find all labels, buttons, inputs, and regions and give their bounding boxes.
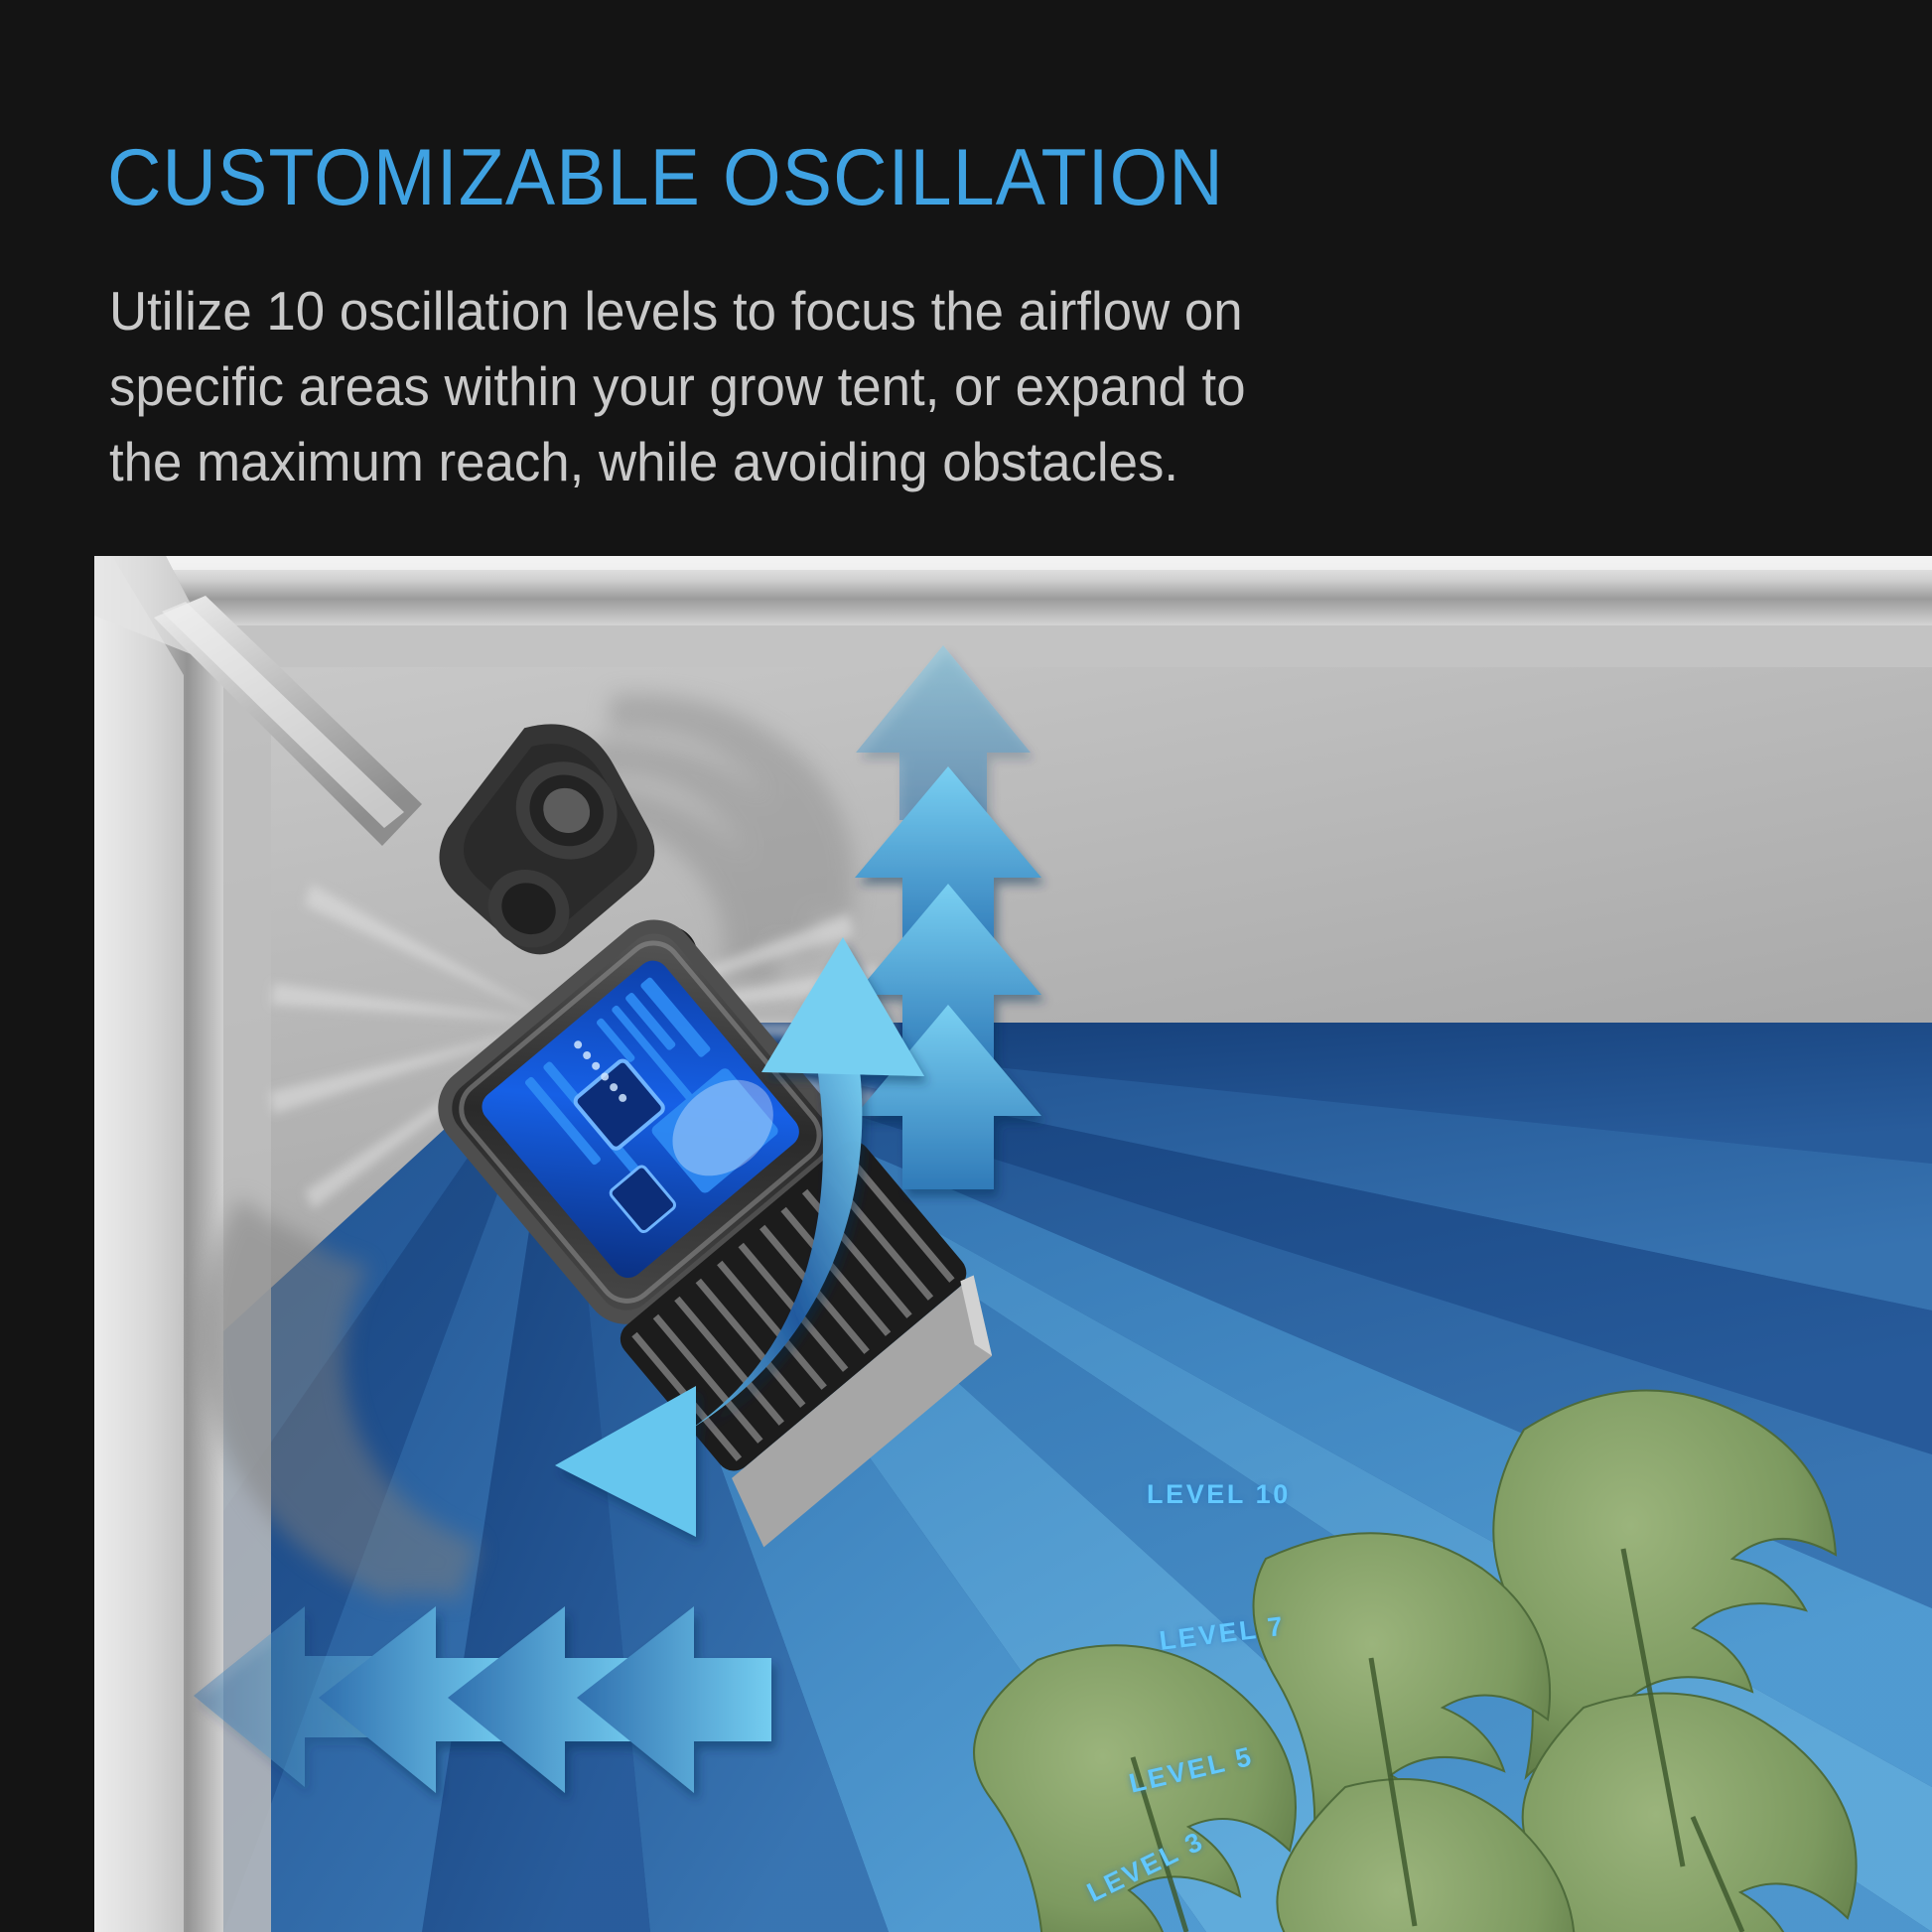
grow-tent-scene: LEVEL 10 LEVEL 7 LEVEL 5 LEVEL 3 LEVEL 1… [94, 556, 1932, 1932]
description-line-1: Utilize 10 oscillation levels to focus t… [109, 273, 1748, 348]
description-line-3: the maximum reach, while avoiding obstac… [109, 424, 1748, 499]
label-right-level-10: LEVEL 10 [1147, 1479, 1291, 1510]
page-title: CUSTOMIZABLE OSCILLATION [107, 132, 1224, 224]
product-feature-banner: CUSTOMIZABLE OSCILLATION Utilize 10 osci… [0, 0, 1932, 1932]
scene-illustration [94, 556, 1932, 1932]
description-line-2: specific areas within your grow tent, or… [109, 348, 1748, 424]
description-paragraph: Utilize 10 oscillation levels to focus t… [109, 273, 1748, 499]
